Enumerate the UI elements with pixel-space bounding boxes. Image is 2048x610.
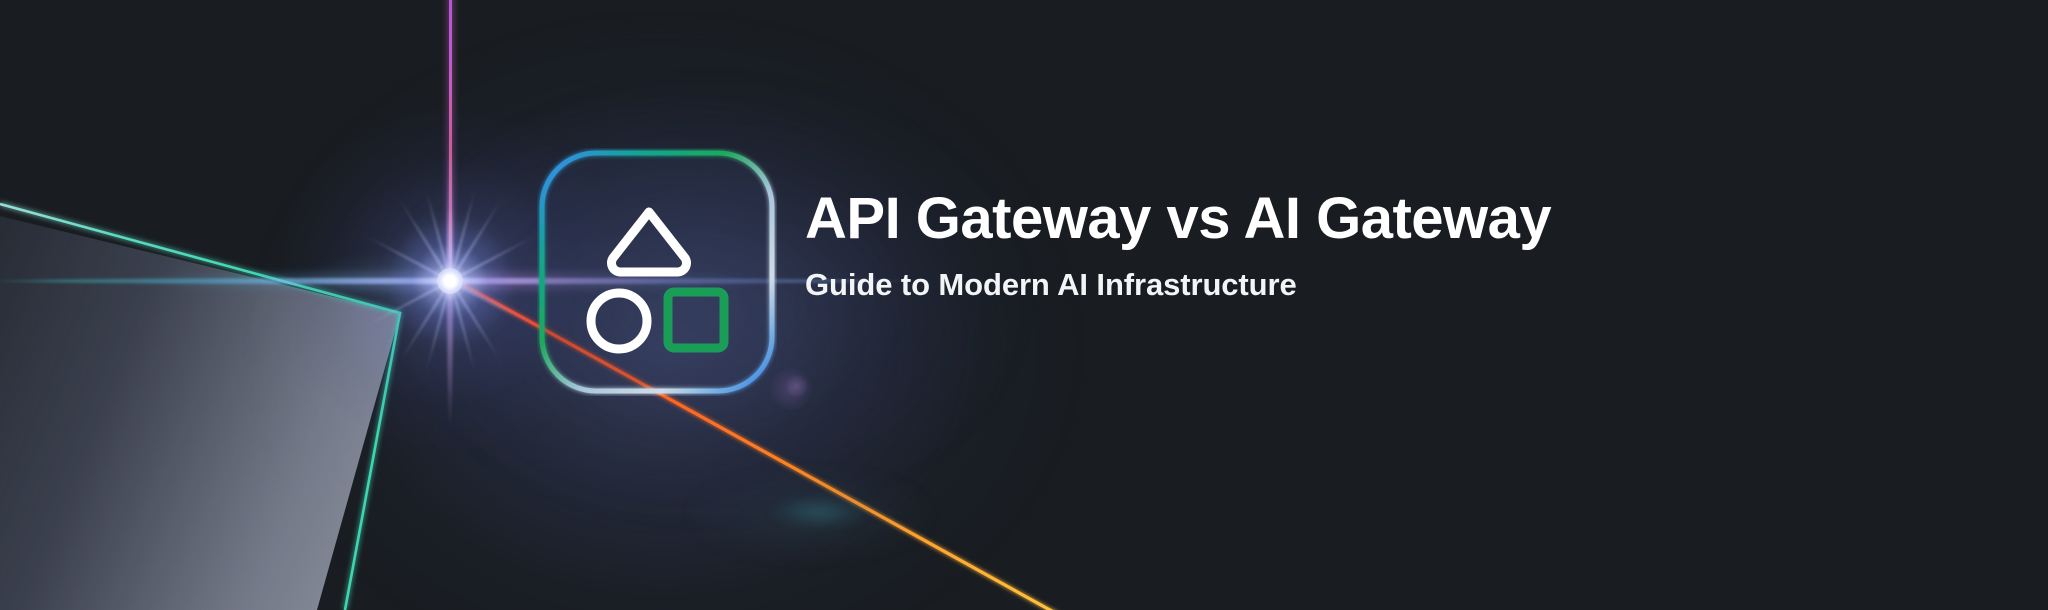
flare-core-point bbox=[437, 268, 463, 294]
hero-banner: API Gateway vs AI Gateway Guide to Moder… bbox=[0, 0, 2048, 610]
flare-ghost-cyan bbox=[770, 495, 870, 529]
page-title: API Gateway vs AI Gateway bbox=[805, 188, 1551, 249]
page-subtitle: Guide to Modern AI Infrastructure bbox=[805, 267, 1551, 303]
gateway-logo-mark bbox=[537, 148, 777, 396]
hero-text-block: API Gateway vs AI Gateway Guide to Moder… bbox=[805, 188, 1551, 303]
flare-ghost-violet-core bbox=[786, 375, 808, 397]
